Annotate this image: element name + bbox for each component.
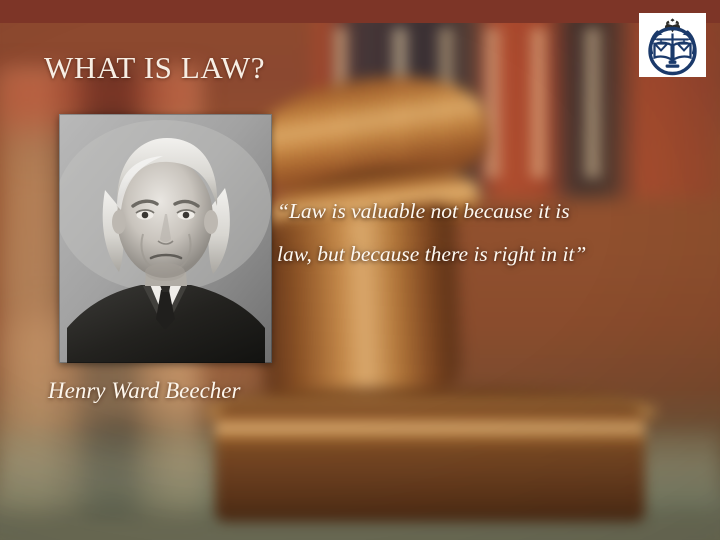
scales-of-justice-icon	[639, 13, 706, 77]
bottom-color-band	[0, 0, 720, 23]
quote-line-1: “Law is valuable not because it is	[277, 190, 691, 233]
page-title: WHAT IS LAW?	[44, 52, 265, 83]
quote-line-2: law, but because there is right in it”	[277, 233, 691, 276]
portrait-image	[59, 114, 272, 363]
quote-text: “Law is valuable not because it is law, …	[277, 190, 691, 275]
slide-canvas: WHAT IS LAW?	[0, 0, 720, 540]
quote-attribution: Henry Ward Beecher	[48, 378, 240, 404]
justice-emblem-logo	[639, 13, 706, 77]
portrait-illustration	[59, 114, 272, 363]
